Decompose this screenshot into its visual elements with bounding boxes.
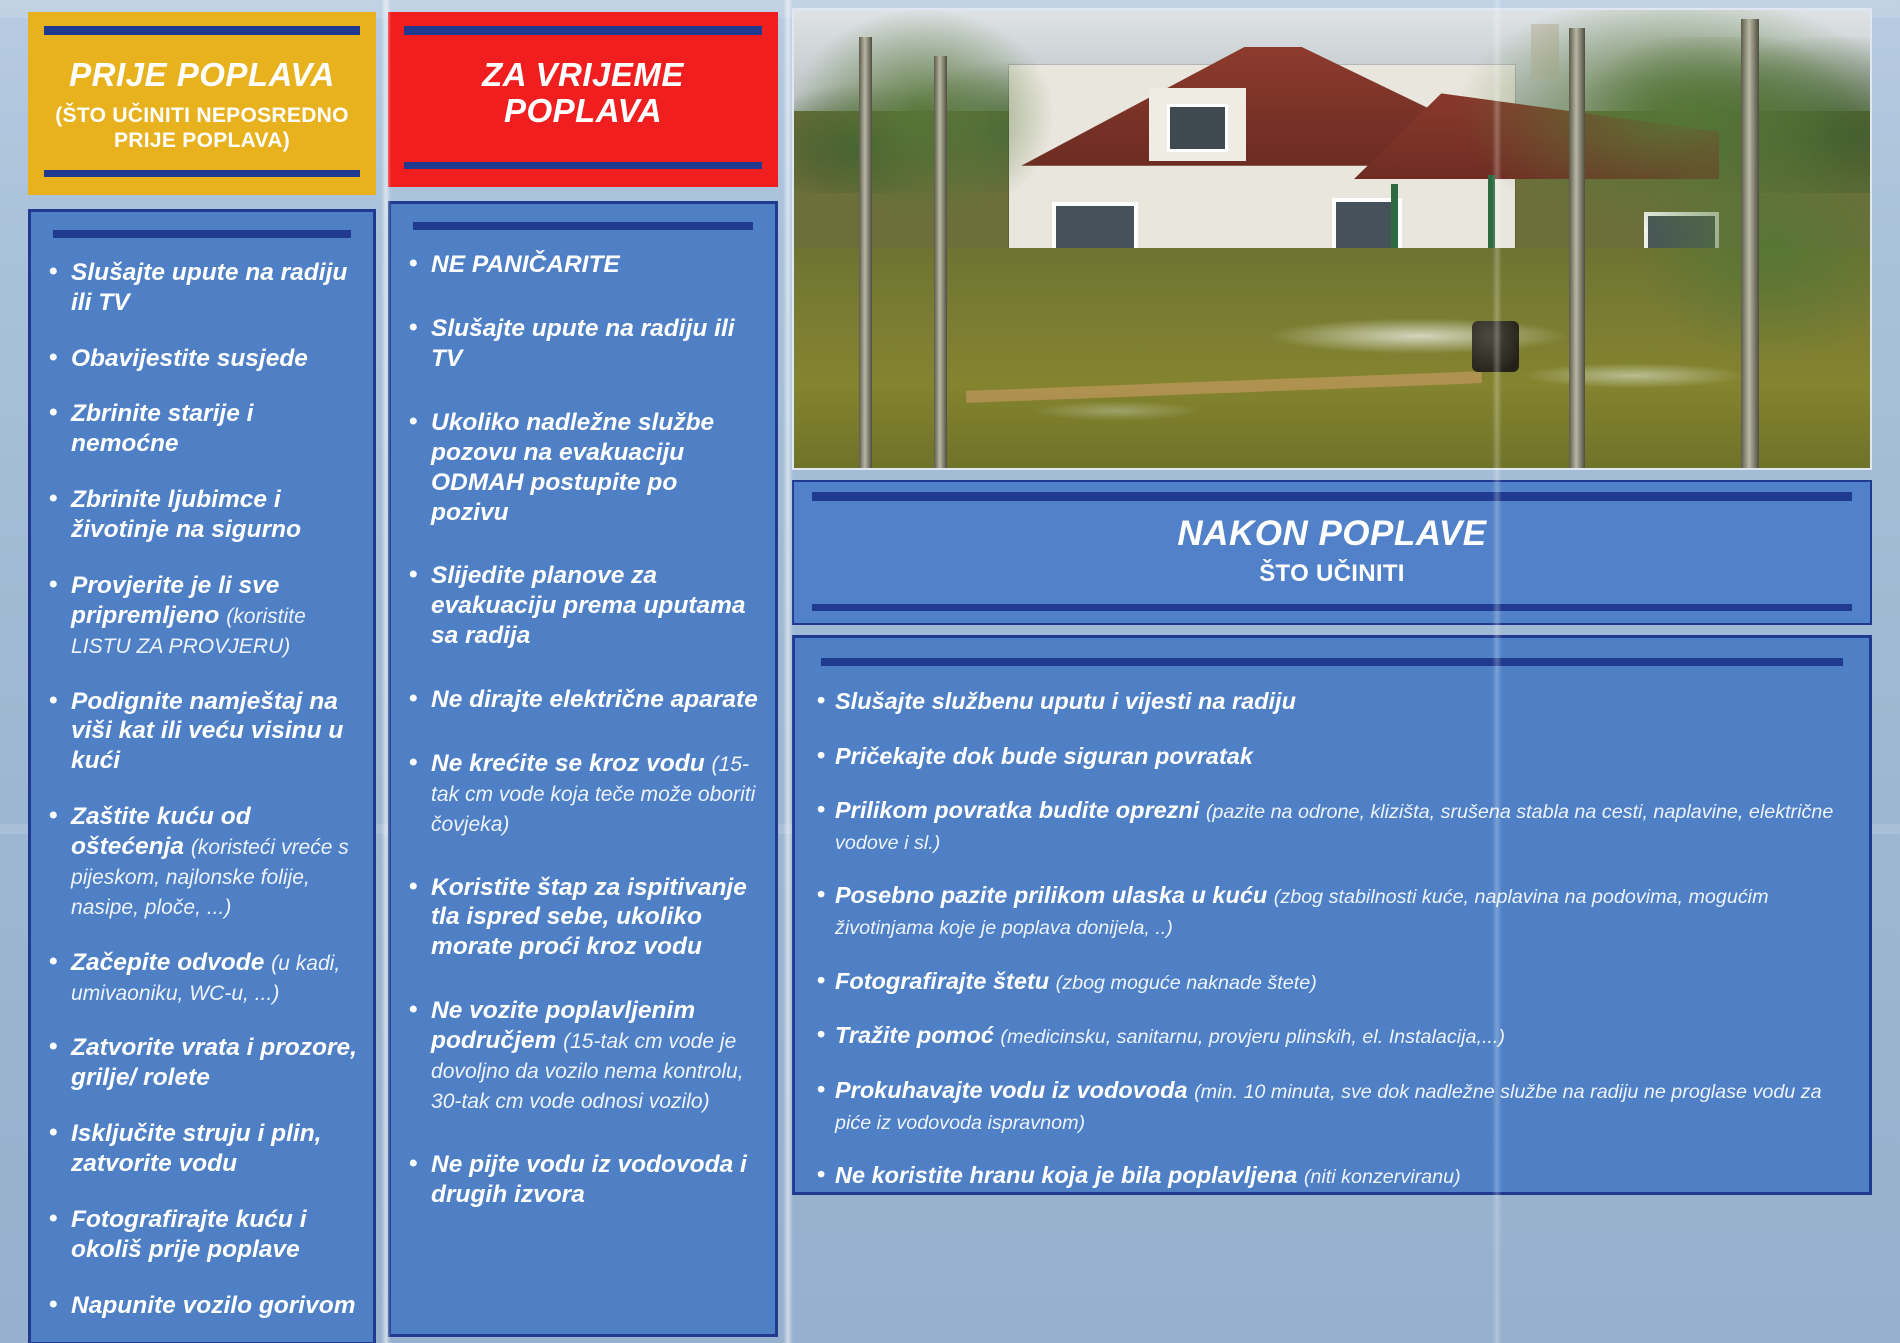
list-item: Slušajte upute na radiju ili TV xyxy=(405,314,761,374)
photo-tree-trunk-4 xyxy=(1741,19,1759,468)
panel-rule-during xyxy=(413,222,753,230)
list-item-lead: Fotografirajte kuću i okoliš prije popla… xyxy=(71,1206,307,1263)
list-item: Isključite struju i plin, zatvorite vodu xyxy=(45,1119,359,1179)
list-item: Zatvorite vrata i prozore, grilje/ rolet… xyxy=(45,1033,359,1093)
header-title-after: NAKON POPLAVE xyxy=(812,515,1852,553)
list-item: Posebno pazite prilikom ulaska u kuću (z… xyxy=(813,880,1851,941)
list-item-lead: NE PANIČARITE xyxy=(431,251,620,278)
flooded-house-photo xyxy=(792,8,1872,470)
brochure-page: PRIJE POPLAVA (ŠTO UČINITI NEPOSREDNO PR… xyxy=(0,0,1900,1343)
column-during-flood: ZA VRIJEME POPLAVA NE PANIČARITESlušajte… xyxy=(388,12,778,1332)
header-title-during: ZA VRIJEME POPLAVA xyxy=(404,57,762,128)
photo-tree-trunk-3 xyxy=(1569,28,1585,468)
list-item-lead: Ne dirajte električne aparate xyxy=(431,686,758,713)
list-item: Prokuhavajte vodu iz vodovoda (min. 10 m… xyxy=(813,1075,1851,1136)
list-item-lead: Obavijestite susjede xyxy=(71,345,308,372)
header-rule-bottom-during xyxy=(404,162,762,169)
list-item: Začepite odvode (u kadi, umivaoniku, WC-… xyxy=(45,948,359,1008)
list-item-lead: Slušajte upute na radiju ili TV xyxy=(71,259,347,316)
list-item-note: (niti konzerviranu) xyxy=(1304,1166,1461,1188)
list-item-lead: Napunite vozilo gorivom xyxy=(71,1292,356,1319)
list-item-lead: Podignite namještaj na viši kat ili veću… xyxy=(71,688,343,775)
list-item: Ukoliko nadležne službe pozovu na evakua… xyxy=(405,408,761,528)
list-item-lead: Slijedite planove za evakuaciju prema up… xyxy=(431,562,746,649)
header-rule-top-during xyxy=(404,26,762,35)
photo-tree-trunk-2 xyxy=(934,56,947,468)
header-rule-top-after xyxy=(812,492,1852,501)
list-item: Slijedite planove za evakuaciju prema up… xyxy=(405,561,761,651)
list-item: Koristite štap za ispitivanje tla ispred… xyxy=(405,873,761,963)
header-during-flood: ZA VRIJEME POPLAVA xyxy=(388,12,778,187)
panel-before-flood: Slušajte upute na radiju ili TVObavijest… xyxy=(28,209,376,1343)
list-item: Prilikom povratka budite oprezni (pazite… xyxy=(813,795,1851,856)
panel-during-flood: NE PANIČARITESlušajte upute na radiju il… xyxy=(388,201,778,1337)
list-item: Zbrinite starije i nemoćne xyxy=(45,399,359,459)
list-item-lead: Začepite odvode xyxy=(71,949,264,976)
list-item-lead: Ukoliko nadležne službe pozovu na evakua… xyxy=(431,409,714,526)
column-before-flood: PRIJE POPLAVA (ŠTO UČINITI NEPOSREDNO PR… xyxy=(28,12,376,1332)
list-item-lead: Zbrinite ljubimce i životinje na sigurno xyxy=(71,486,301,543)
list-item-lead: Ne koristite hranu koja je bila poplavlj… xyxy=(835,1162,1297,1188)
header-rule-top xyxy=(44,26,360,35)
column-after-flood: NAKON POPLAVE ŠTO UČINITI Slušajte služb… xyxy=(792,8,1872,1333)
photo-tree-trunk-1 xyxy=(859,37,872,468)
panel-rule-before xyxy=(53,230,351,238)
list-item-lead: Ne krećite se kroz vodu xyxy=(431,750,705,777)
list-item: Pričekajte dok bude siguran povratak xyxy=(813,741,1851,772)
list-item-lead: Prilikom povratka budite oprezni xyxy=(835,797,1199,823)
list-item-lead: Koristite štap za ispitivanje tla ispred… xyxy=(431,874,747,961)
list-item: Tražite pomoć (medicinsku, sanitarnu, pr… xyxy=(813,1020,1851,1051)
header-after-flood: NAKON POPLAVE ŠTO UČINITI xyxy=(792,480,1872,625)
list-item-lead: Prokuhavajte vodu iz vodovoda xyxy=(835,1077,1188,1103)
list-item: Podignite namještaj na viši kat ili veću… xyxy=(45,687,359,777)
header-rule-bottom xyxy=(44,170,360,177)
list-item-lead: Ne pijte vodu iz vodovoda i drugih izvor… xyxy=(431,1151,747,1208)
list-item: Ne krećite se kroz vodu (15-tak cm vode … xyxy=(405,749,761,839)
list-item-lead: Slušajte upute na radiju ili TV xyxy=(431,315,735,372)
list-item: Provjerite je li sve pripremljeno (koris… xyxy=(45,571,359,661)
list-before-flood: Slušajte upute na radiju ili TVObavijest… xyxy=(45,258,359,1321)
header-subtitle-after: ŠTO UČINITI xyxy=(812,559,1852,588)
list-item: Zbrinite ljubimce i životinje na sigurno xyxy=(45,485,359,545)
list-item: Ne koristite hranu koja je bila poplavlj… xyxy=(813,1160,1851,1191)
list-during-flood: NE PANIČARITESlušajte upute na radiju il… xyxy=(405,250,761,1209)
list-item-lead: Fotografirajte štetu xyxy=(835,968,1049,994)
photo-foliage-left xyxy=(794,10,1052,221)
list-item-lead: Isključite struju i plin, zatvorite vodu xyxy=(71,1120,322,1177)
panel-rule-after xyxy=(821,658,1843,666)
list-item: NE PANIČARITE xyxy=(405,250,761,280)
list-item-lead: Pričekajte dok bude siguran povratak xyxy=(835,743,1253,769)
list-item: Fotografirajte kuću i okoliš prije popla… xyxy=(45,1205,359,1265)
header-title-before: PRIJE POPLAVA xyxy=(44,57,360,93)
list-item: Slušajte službenu uputu i vijesti na rad… xyxy=(813,686,1851,717)
list-item: Ne pijte vodu iz vodovoda i drugih izvor… xyxy=(405,1150,761,1210)
list-item-lead: Zatvorite vrata i prozore, grilje/ rolet… xyxy=(71,1034,357,1091)
list-item-note: (zbog moguće naknade štete) xyxy=(1056,972,1317,994)
list-item-lead: Zbrinite starije i nemoćne xyxy=(71,400,253,457)
list-item: Slušajte upute na radiju ili TV xyxy=(45,258,359,318)
list-item-note: (medicinsku, sanitarnu, provjeru plinski… xyxy=(1000,1026,1505,1048)
photo-dormer-window xyxy=(1149,88,1246,161)
list-item: Fotografirajte štetu (zbog moguće naknad… xyxy=(813,966,1851,997)
list-item: Obavijestite susjede xyxy=(45,344,359,374)
list-item: Zaštite kuću od oštećenja (koristeći vre… xyxy=(45,802,359,922)
list-after-flood: Slušajte službenu uputu i vijesti na rad… xyxy=(813,686,1851,1191)
list-item-lead: Slušajte službenu uputu i vijesti na rad… xyxy=(835,688,1296,714)
header-before-flood: PRIJE POPLAVA (ŠTO UČINITI NEPOSREDNO PR… xyxy=(28,12,376,195)
header-subtitle-before: (ŠTO UČINITI NEPOSREDNO PRIJE POPLAVA) xyxy=(44,103,360,154)
list-item-lead: Posebno pazite prilikom ulaska u kuću xyxy=(835,882,1267,908)
header-rule-bottom-after xyxy=(812,604,1852,611)
list-item: Ne dirajte električne aparate xyxy=(405,685,761,715)
photo-barrel xyxy=(1472,321,1519,371)
list-item-lead: Tražite pomoć xyxy=(835,1022,994,1048)
list-item: Ne vozite poplavljenim područjem (15-tak… xyxy=(405,996,761,1116)
panel-after-flood: Slušajte službenu uputu i vijesti na rad… xyxy=(792,635,1872,1195)
list-item: Napunite vozilo gorivom xyxy=(45,1291,359,1321)
